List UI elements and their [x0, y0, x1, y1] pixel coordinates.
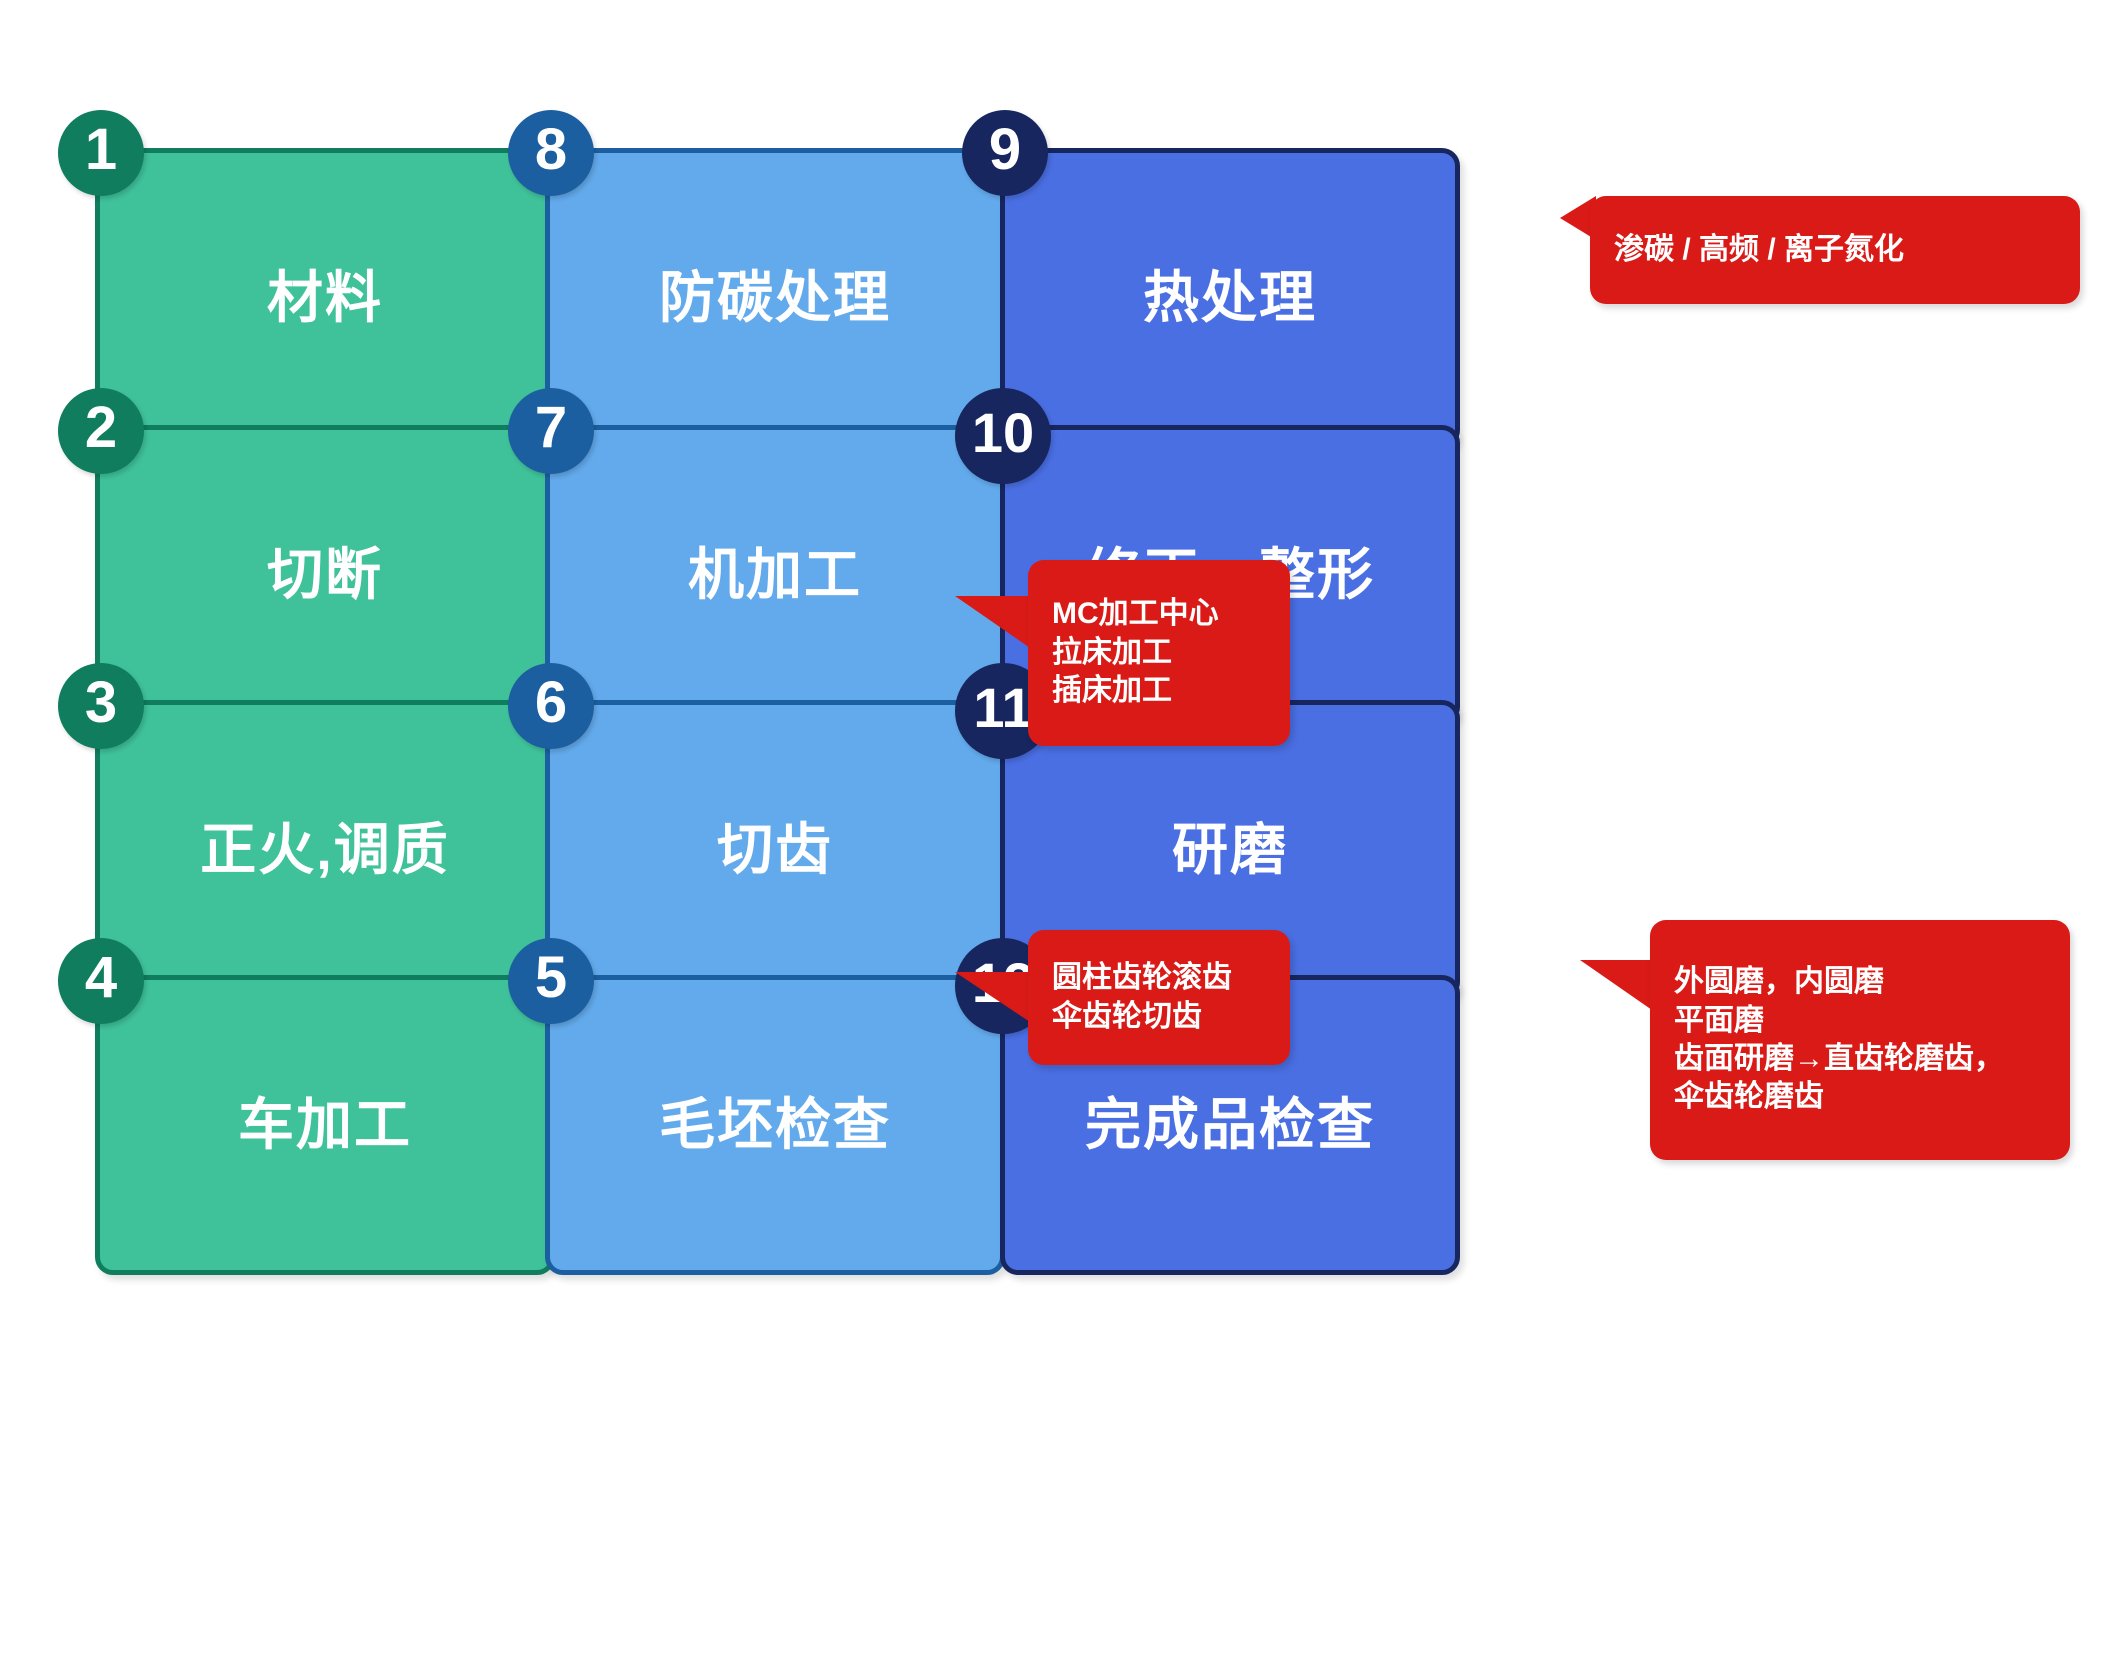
callout-tail-machining — [955, 596, 1033, 650]
process-node-12-label: 完成品检查 — [1085, 1097, 1375, 1153]
step-badge-6-number: 6 — [535, 674, 567, 732]
step-badge-3-number: 3 — [85, 674, 117, 732]
process-node-11-label: 研磨 — [1172, 822, 1288, 878]
step-badge-4-number: 4 — [85, 949, 117, 1007]
callout-tail-gear-cutting — [955, 972, 1033, 1024]
process-node-4-label: 车加工 — [238, 1097, 412, 1153]
step-badge-9: 9 — [962, 110, 1048, 196]
callout-gear-cutting-text: 圆柱齿轮滚齿 伞齿轮切齿 — [1028, 943, 1256, 1052]
process-node-6[interactable]: 切齿 — [545, 700, 1005, 1000]
process-node-1[interactable]: 材料 — [95, 148, 555, 448]
step-badge-5: 5 — [508, 938, 594, 1024]
process-node-8[interactable]: 防碳处理 — [545, 148, 1005, 448]
callout-heat-treatment: 渗碳 / 高频 / 离子氮化 — [1590, 196, 2080, 304]
step-badge-1-number: 1 — [85, 121, 117, 179]
step-badge-9-number: 9 — [989, 121, 1021, 179]
step-badge-2: 2 — [58, 388, 144, 474]
process-node-6-label: 切齿 — [717, 822, 833, 878]
process-node-9-label: 热处理 — [1143, 270, 1317, 326]
process-node-1-label: 材料 — [267, 270, 383, 326]
process-node-3-label: 正火,调质 — [200, 822, 450, 878]
step-badge-4: 4 — [58, 938, 144, 1024]
process-node-2[interactable]: 切断 — [95, 425, 555, 725]
process-node-5-label: 毛坯检查 — [659, 1097, 891, 1153]
callout-grinding: 外圆磨，内圆磨 平面磨 齿面研磨→直齿轮磨齿， 伞齿轮磨齿 — [1650, 920, 2070, 1160]
callout-grinding-text: 外圆磨，内圆磨 平面磨 齿面研磨→直齿轮磨齿， 伞齿轮磨齿 — [1650, 947, 2028, 1133]
callout-tail-grinding — [1580, 960, 1652, 1010]
step-badge-10: 10 — [955, 388, 1051, 484]
step-badge-1: 1 — [58, 110, 144, 196]
process-node-4[interactable]: 车加工 — [95, 975, 555, 1275]
step-badge-8: 8 — [508, 110, 594, 196]
step-badge-8-number: 8 — [535, 121, 567, 179]
step-badge-2-number: 2 — [85, 399, 117, 457]
step-badge-6: 6 — [508, 663, 594, 749]
step-badge-7: 7 — [508, 388, 594, 474]
callout-gear-cutting: 圆柱齿轮滚齿 伞齿轮切齿 — [1028, 930, 1290, 1065]
step-badge-10-number: 10 — [972, 405, 1034, 461]
process-node-7[interactable]: 机加工 — [545, 425, 1005, 725]
step-badge-5-number: 5 — [535, 949, 567, 1007]
step-badge-3: 3 — [58, 663, 144, 749]
step-badge-11-number: 11 — [973, 680, 1032, 736]
callout-machining-text: MC加工中心 拉床加工 插床加工 — [1028, 579, 1243, 726]
callout-machining: MC加工中心 拉床加工 插床加工 — [1028, 560, 1290, 746]
step-badge-7-number: 7 — [535, 399, 567, 457]
process-node-8-label: 防碳处理 — [659, 270, 891, 326]
process-node-2-label: 切断 — [267, 547, 383, 603]
process-node-9[interactable]: 热处理 — [1000, 148, 1460, 448]
process-node-7-label: 机加工 — [688, 547, 862, 603]
process-node-3[interactable]: 正火,调质 — [95, 700, 555, 1000]
process-node-5[interactable]: 毛坯检查 — [545, 975, 1005, 1275]
callout-heat-treatment-text: 渗碳 / 高频 / 离子氮化 — [1590, 215, 1928, 285]
flowchart-canvas: 材料 1 切断 2 正火,调质 3 车加工 4 防碳处理 8 机加工 7 切齿 … — [0, 0, 2124, 1672]
